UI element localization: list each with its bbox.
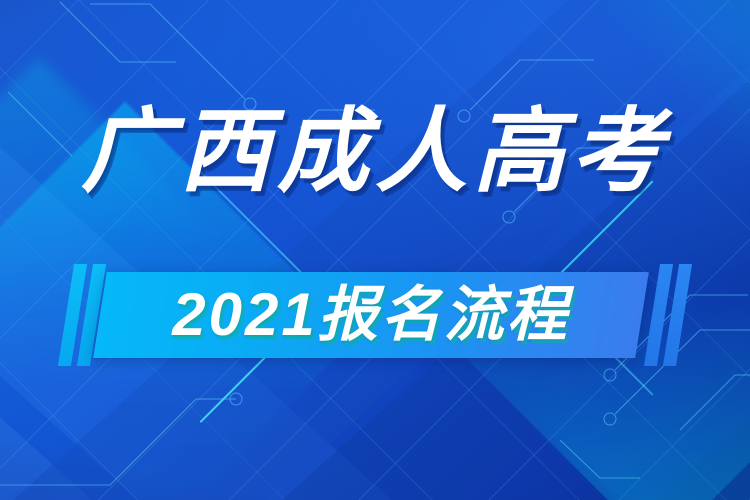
page-title: 广西成人高考 [0, 106, 750, 198]
subtitle-band-group: 2021报名流程 [0, 272, 750, 358]
poster-canvas: 广西成人高考 2021报名流程 [0, 0, 750, 500]
subtitle-text: 2021报名流程 [100, 272, 642, 358]
subtitle-band: 2021报名流程 [93, 272, 649, 358]
